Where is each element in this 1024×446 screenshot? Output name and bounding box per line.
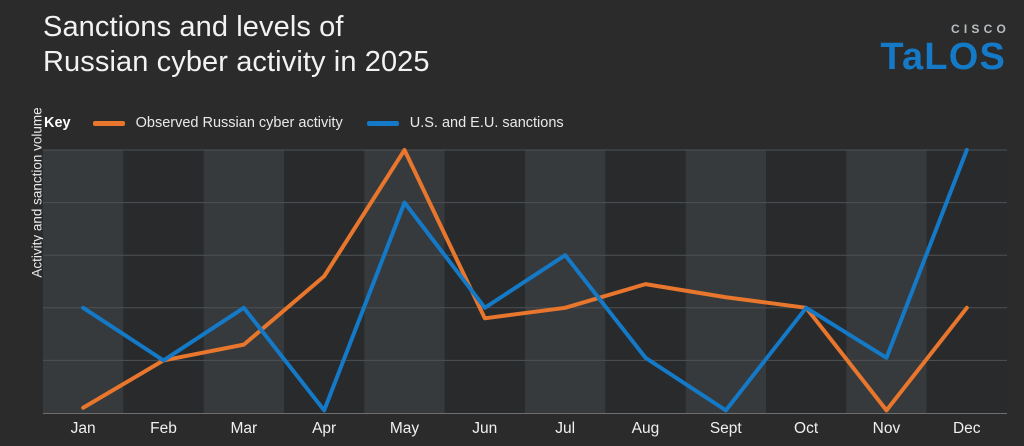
x-tick-feb: Feb [123, 416, 203, 442]
legend-label-sanctions: U.S. and E.U. sanctions [410, 115, 564, 131]
x-tick-apr: Apr [284, 416, 364, 442]
legend-label-observed-activity: Observed Russian cyber activity [136, 115, 343, 131]
x-tick-nov: Nov [846, 416, 926, 442]
plot-area [43, 150, 1007, 413]
column-band [204, 150, 284, 413]
x-tick-mar: Mar [204, 416, 284, 442]
x-axis-tick-labels: JanFebMarAprMayJunJulAugSeptOctNovDec [43, 416, 1007, 442]
column-band [525, 150, 605, 413]
column-band [766, 150, 846, 413]
x-tick-jun: Jun [445, 416, 525, 442]
column-band [445, 150, 525, 413]
chart-canvas [43, 150, 1007, 413]
x-tick-may: May [364, 416, 444, 442]
chart-page: Sanctions and levels of Russian cyber ac… [0, 0, 1024, 446]
chart-legend: Key Observed Russian cyber activity U.S.… [44, 113, 588, 133]
cisco-wordmark: CISCO [880, 22, 1010, 36]
x-tick-dec: Dec [927, 416, 1007, 442]
x-tick-jan: Jan [43, 416, 123, 442]
column-band [927, 150, 1007, 413]
page-title: Sanctions and levels of Russian cyber ac… [43, 10, 430, 80]
legend-swatch-blue [367, 121, 399, 126]
x-axis-line [43, 413, 1007, 414]
legend-swatch-orange [93, 121, 125, 126]
x-tick-jul: Jul [525, 416, 605, 442]
legend-item-observed-activity: Observed Russian cyber activity [93, 115, 343, 131]
legend-item-sanctions: U.S. and E.U. sanctions [367, 115, 564, 131]
talos-wordmark: TaLOS [880, 37, 1006, 77]
column-band [123, 150, 203, 413]
x-tick-oct: Oct [766, 416, 846, 442]
column-band [43, 150, 123, 413]
column-band [605, 150, 685, 413]
x-tick-aug: Aug [605, 416, 685, 442]
cisco-talos-logo: CISCO TaLOS [880, 22, 1006, 77]
column-band [364, 150, 444, 413]
legend-key-label: Key [44, 115, 71, 131]
x-tick-sept: Sept [686, 416, 766, 442]
